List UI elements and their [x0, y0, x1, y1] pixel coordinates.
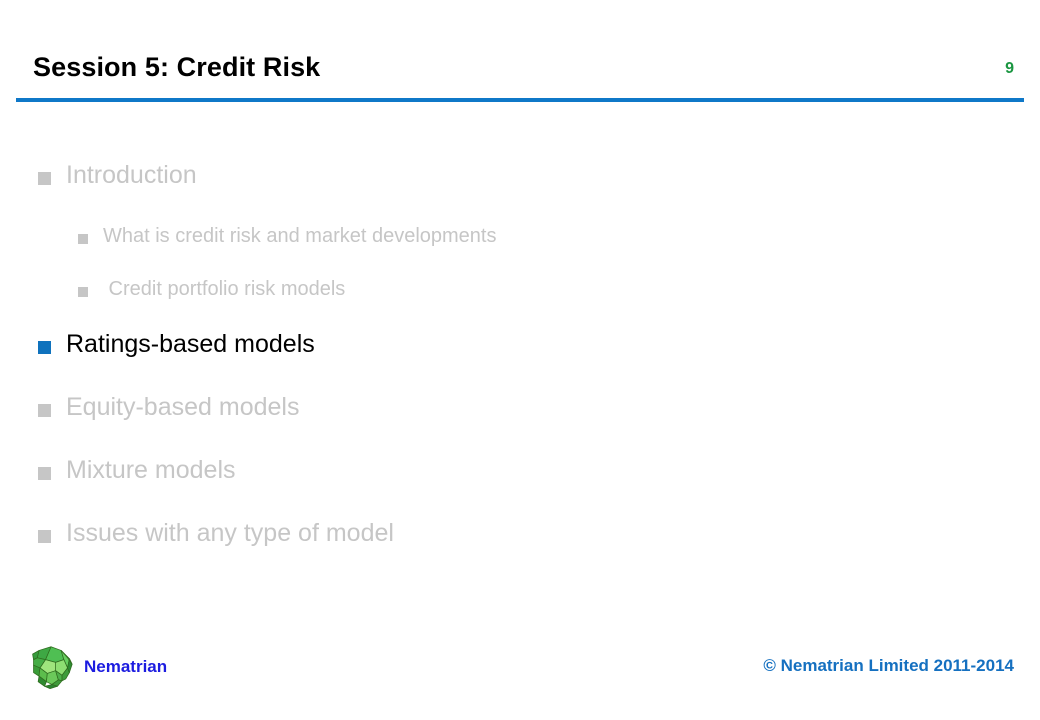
- list-item[interactable]: Issues with any type of model: [0, 518, 1040, 581]
- list-item-label: Mixture models: [66, 455, 236, 485]
- square-bullet-icon: [78, 234, 88, 244]
- list-item[interactable]: Credit portfolio risk models: [0, 276, 1040, 329]
- list-item-label: Introduction: [66, 160, 197, 190]
- slide-footer: Nematrian © Nematrian Limited 2011-2014: [0, 640, 1040, 710]
- list-item-label: Equity-based models: [66, 392, 299, 422]
- list-item[interactable]: Equity-based models: [0, 392, 1040, 455]
- slide-header: Session 5: Credit Risk 9: [0, 52, 1040, 104]
- list-item-label: What is credit risk and market developme…: [103, 223, 497, 249]
- brand-lockup[interactable]: Nematrian: [28, 644, 167, 690]
- list-item[interactable]: What is credit risk and market developme…: [0, 223, 1040, 276]
- green-polyhedron-logo-icon: [28, 644, 74, 690]
- page-number: 9: [1005, 60, 1014, 78]
- square-bullet-icon: [38, 530, 51, 543]
- copyright-notice: © Nematrian Limited 2011-2014: [763, 656, 1014, 676]
- list-item[interactable]: Introduction: [0, 160, 1040, 223]
- list-item-label: Issues with any type of model: [66, 518, 394, 548]
- list-item-active[interactable]: Ratings-based models: [0, 329, 1040, 392]
- page-title: Session 5: Credit Risk: [33, 52, 320, 83]
- title-divider: [16, 98, 1024, 102]
- slide-canvas: Session 5: Credit Risk 9 Introduction Wh…: [0, 0, 1040, 720]
- list-item[interactable]: Mixture models: [0, 455, 1040, 518]
- agenda-list: Introduction What is credit risk and mar…: [0, 160, 1040, 581]
- square-bullet-icon: [38, 467, 51, 480]
- square-bullet-icon: [38, 341, 51, 354]
- brand-name: Nematrian: [84, 657, 167, 677]
- square-bullet-icon: [38, 404, 51, 417]
- square-bullet-icon: [38, 172, 51, 185]
- list-item-label: Credit portfolio risk models: [103, 276, 345, 302]
- square-bullet-icon: [78, 287, 88, 297]
- list-item-label: Ratings-based models: [66, 329, 315, 359]
